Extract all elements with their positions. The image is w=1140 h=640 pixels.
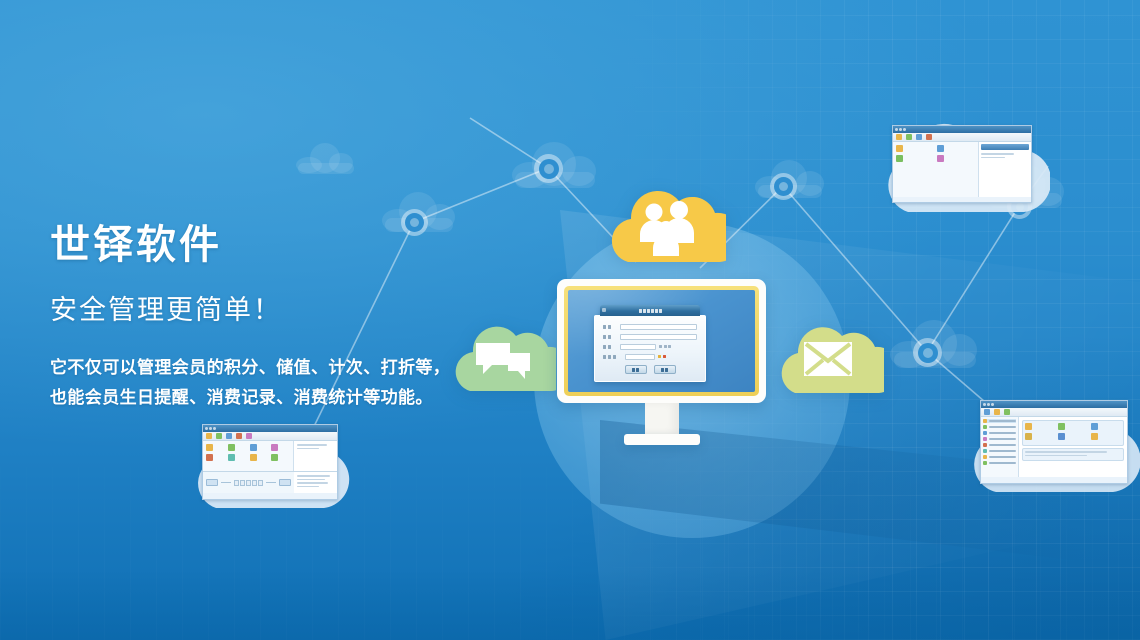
window-titlebar [981, 401, 1127, 408]
login-input-server[interactable] [625, 354, 655, 360]
monitor-inner-frame [564, 286, 759, 396]
app-window-bottom-left [202, 424, 338, 500]
window-flow-diagram [203, 472, 294, 493]
cloud-shape-messaging [448, 313, 556, 395]
window-toolbar [981, 408, 1127, 417]
window-titlebar [203, 425, 337, 432]
window-side-panel [294, 441, 337, 471]
login-input-captcha[interactable] [620, 344, 656, 350]
window-right-panel [979, 142, 1031, 197]
login-input-account[interactable] [620, 324, 697, 330]
window-left-panel [893, 142, 979, 197]
window-body [203, 441, 337, 493]
content-group-1 [1022, 420, 1124, 446]
icon-cloud-members [604, 176, 726, 266]
content-group-2 [1022, 448, 1124, 461]
ghost-cloud-1 [296, 143, 356, 173]
app-cloud-bottom-left [190, 418, 350, 518]
cloud-shape-mail [772, 313, 884, 397]
login-label-captcha [603, 345, 620, 349]
login-submit-button[interactable] [625, 365, 647, 374]
dialog-app-icon [602, 308, 606, 312]
page-title: 世铎软件 [50, 222, 520, 268]
login-label-server [603, 355, 625, 359]
captcha-image[interactable] [659, 345, 671, 348]
login-field-row-server [603, 353, 697, 360]
monitor-screen [568, 290, 755, 392]
banner-stage: 世铎软件 安全管理更简单！ 它不仅可以管理会员的积分、储值、计次、打折等， 也能… [0, 0, 1140, 640]
window-icon-grid [203, 441, 294, 471]
bottom-gradient-band [0, 570, 1140, 640]
window-body [893, 142, 1031, 197]
network-node-4 [913, 338, 942, 367]
monitor [557, 279, 766, 445]
window-log-panel [294, 472, 337, 493]
monitor-neck [645, 403, 679, 434]
login-label-account [603, 325, 620, 329]
app-window-bottom-right [980, 400, 1128, 484]
login-dialog-body [594, 315, 706, 382]
window-titlebar [893, 126, 1031, 133]
login-field-row-captcha [603, 343, 697, 350]
window-content-panel [1019, 417, 1127, 477]
login-dialog [594, 305, 706, 382]
network-node-3 [770, 173, 797, 200]
window-nav-panel [981, 417, 1019, 477]
login-dialog-titlebar [600, 305, 700, 316]
monitor-bezel [557, 279, 766, 403]
window-toolbar [893, 133, 1031, 142]
login-field-row-password [603, 333, 697, 340]
envelope-icon [804, 342, 852, 376]
login-cancel-button[interactable] [654, 365, 676, 374]
login-label-password [603, 335, 620, 339]
login-dialog-buttons [603, 365, 697, 374]
window-body [981, 417, 1127, 477]
login-field-row-account [603, 323, 697, 330]
window-toolbar [203, 432, 337, 441]
login-input-password[interactable] [620, 334, 697, 340]
cloud-shape-members [604, 176, 726, 266]
network-node-2 [534, 154, 563, 183]
icon-cloud-mail [772, 313, 884, 397]
monitor-base [624, 434, 700, 445]
app-cloud-bottom-right [968, 394, 1140, 504]
app-window-top-right [892, 125, 1032, 203]
app-cloud-top-right [878, 116, 1050, 224]
icon-cloud-messaging [448, 313, 556, 395]
server-settings-link[interactable] [658, 355, 666, 358]
